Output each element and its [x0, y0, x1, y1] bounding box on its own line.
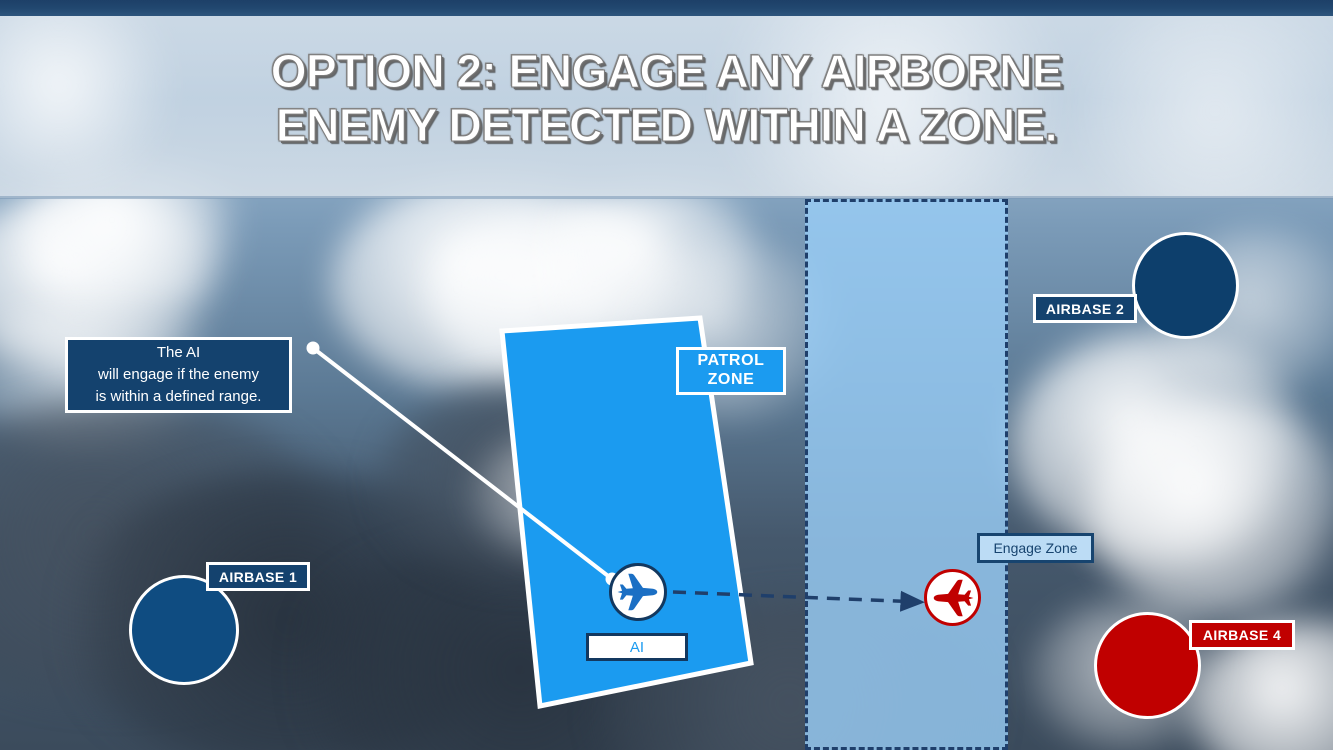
fighter-jet-icon [616, 570, 660, 614]
engage-zone-label-text: Engage Zone [993, 540, 1077, 556]
leader-line-origin-dot [307, 342, 320, 355]
ai-unit-label[interactable]: AI [586, 633, 688, 661]
airbase-1-label[interactable]: AIRBASE 1 [206, 562, 310, 591]
airbase-1-label-text: AIRBASE 1 [219, 569, 297, 585]
ai-unit-label-text: AI [630, 639, 644, 656]
patrol-zone-label[interactable]: PATROL ZONE [676, 347, 786, 395]
airbase-1-circle[interactable] [129, 575, 239, 685]
airbase-2-label-text: AIRBASE 2 [1046, 301, 1124, 317]
patrol-zone-label-text: PATROL ZONE [698, 352, 765, 390]
ai-explanation-text: The AI will engage if the enemy is withi… [96, 342, 262, 407]
airbase-2-circle[interactable] [1132, 232, 1239, 339]
ai-aircraft-marker[interactable] [609, 563, 667, 621]
ai-explanation-callout: The AI will engage if the enemy is withi… [65, 337, 292, 413]
engage-zone-label[interactable]: Engage Zone [977, 533, 1094, 563]
airbase-2-label[interactable]: AIRBASE 2 [1033, 294, 1137, 323]
airbase-4-label-text: AIRBASE 4 [1203, 627, 1281, 643]
slide-canvas: OPTION 2: ENGAGE ANY AIRBORNE ENEMY DETE… [0, 0, 1333, 750]
airbase-4-label[interactable]: AIRBASE 4 [1189, 620, 1295, 650]
fighter-jet-icon [931, 576, 975, 620]
airbase-4-circle[interactable] [1094, 612, 1201, 719]
enemy-aircraft-marker[interactable] [924, 569, 981, 626]
